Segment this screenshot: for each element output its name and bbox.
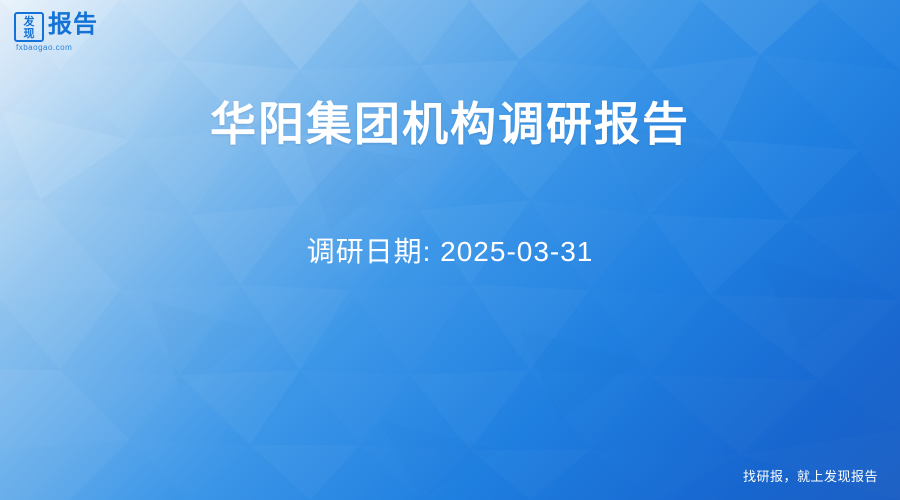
page-title: 华阳集团机构调研报告: [0, 94, 900, 154]
survey-date-subtitle: 调研日期: 2025-03-31: [0, 232, 900, 272]
logo-mark-line2: 现: [16, 28, 42, 40]
cover-page: 发 现 报告 fxbaogao.com 华阳集团机构调研报告 调研日期: 202…: [0, 0, 900, 500]
footer-slogan: 找研报，就上发现报告: [743, 468, 878, 486]
logo-mark-icon: 发 现: [14, 12, 44, 42]
logo-wordmark: 报告: [48, 11, 98, 39]
logo-url: fxbaogao.com: [16, 43, 72, 53]
logo-mark-line1: 发: [16, 16, 42, 28]
cover-background: 发 现 报告 fxbaogao.com 华阳集团机构调研报告 调研日期: 202…: [0, 0, 900, 500]
site-logo: 发 现 报告 fxbaogao.com: [14, 10, 130, 52]
